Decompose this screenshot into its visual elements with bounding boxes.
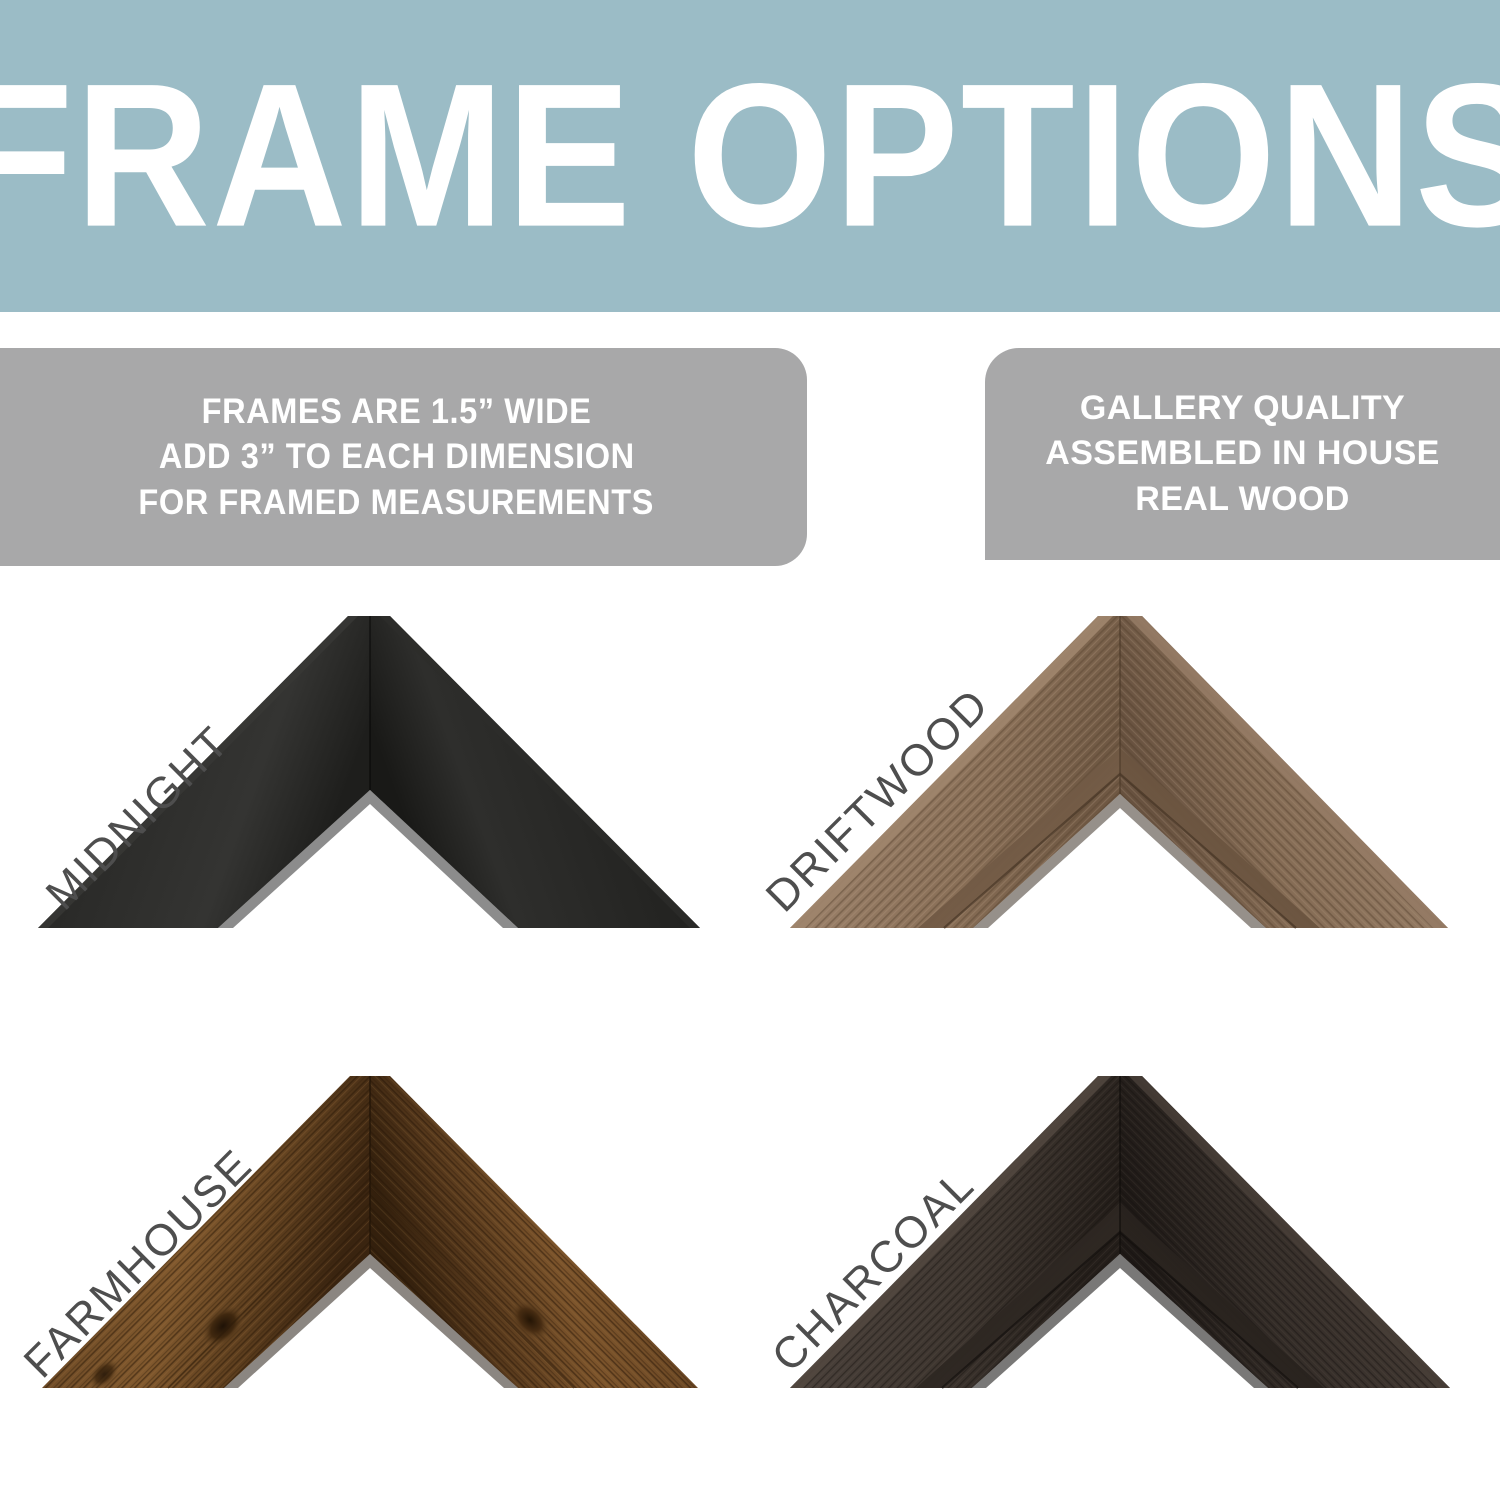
frame-swatch-charcoal[interactable]: CHARCOAL	[750, 1040, 1500, 1490]
banner-measurements-line-1: FRAMES ARE 1.5” WIDE	[202, 389, 592, 434]
banner-measurements: FRAMES ARE 1.5” WIDE ADD 3” TO EACH DIME…	[0, 348, 807, 566]
page-title: FRAME OPTIONS	[0, 54, 1500, 258]
frame-corner-midnight-image	[18, 598, 718, 968]
frame-swatch-grid: MIDNIGHT	[0, 580, 1500, 1480]
banner-measurements-line-2: ADD 3” TO EACH DIMENSION	[159, 434, 635, 479]
frame-swatch-midnight[interactable]: MIDNIGHT	[0, 580, 750, 1030]
banner-quality-line-3: REAL WOOD	[1135, 477, 1350, 522]
banner-quality: GALLERY QUALITY ASSEMBLED IN HOUSE REAL …	[985, 348, 1500, 560]
banner-quality-line-1: GALLERY QUALITY	[1080, 386, 1405, 431]
banner-measurements-line-3: FOR FRAMED MEASUREMENTS	[139, 480, 655, 525]
frame-swatch-driftwood[interactable]: DRIFTWOOD	[750, 580, 1500, 1030]
banner-quality-line-2: ASSEMBLED IN HOUSE	[1045, 431, 1439, 476]
frame-options-infographic: FRAME OPTIONS FRAMES ARE 1.5” WIDE ADD 3…	[0, 0, 1500, 1500]
frame-swatch-farmhouse[interactable]: FARMHOUSE	[0, 1040, 750, 1490]
header-band: FRAME OPTIONS	[0, 0, 1500, 312]
